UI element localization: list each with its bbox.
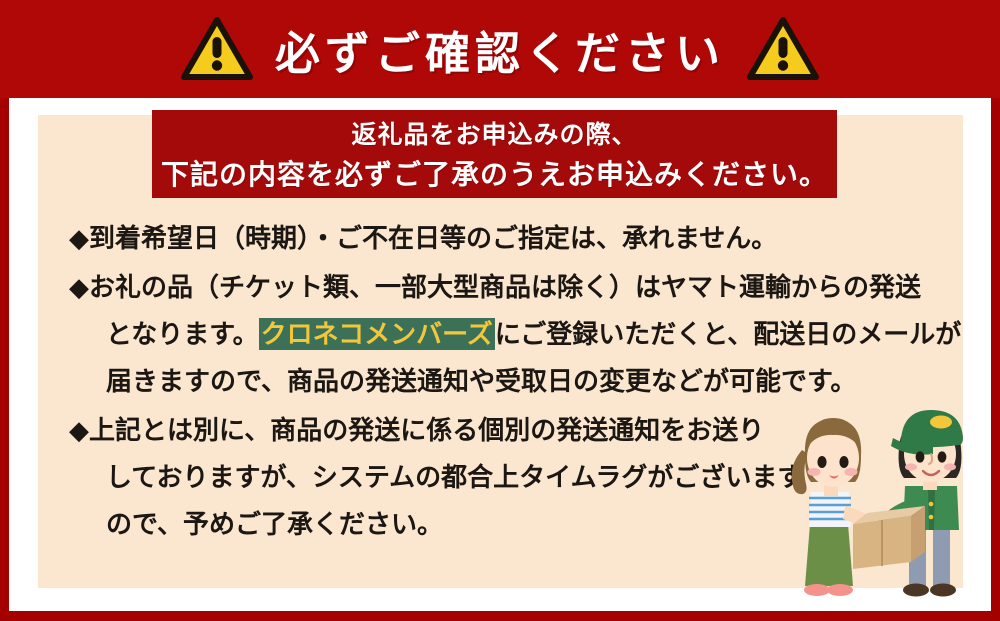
notice-item: ◆お礼の品（チケット類、一部大型商品は除く）はヤマト運輸からの発送 となります。…: [69, 264, 959, 405]
kuroneko-members-highlight: クロネコメンバーズ: [259, 318, 495, 350]
banner-callout: 返礼品をお申込みの際、 下記の内容を必ずご了承のうえお申込みください。: [152, 110, 837, 198]
notice-line: ◆お礼の品（チケット類、一部大型商品は除く）はヤマト運輸からの発送: [69, 264, 959, 311]
warning-triangle-icon: [181, 17, 253, 81]
notice-poster: 必ずご確認ください 返礼品をお申込みの際、 下記の内容を必ずご了承のうえお申込み…: [0, 0, 1000, 621]
notice-line: ◆到着希望日（時期）・ご不在日等のご指定は、承れません。: [69, 215, 959, 262]
delivery-person-figure: [867, 410, 963, 597]
page-title: 必ずご確認ください: [275, 17, 725, 82]
banner-line-2: 下記の内容を必ずご了承のうえお申込みください。: [161, 153, 828, 193]
poster-header: 必ずご確認ください: [0, 0, 1000, 98]
woman-figure: [792, 418, 893, 596]
notice-text-before: となります。: [106, 319, 259, 349]
notice-text-after: にご登録いただくと、配送日のメールが: [495, 319, 961, 349]
notice-item: ◆到着希望日（時期）・ご不在日等のご指定は、承れません。: [69, 215, 959, 262]
delivery-handover-illustration: [745, 386, 995, 611]
banner-line-1: 返礼品をお申込みの際、: [351, 115, 637, 151]
notice-line-text: ◆到着希望日（時期）・ご不在日等のご指定は、承れません。: [69, 223, 777, 253]
warning-triangle-icon: [747, 17, 819, 81]
notice-line: となります。クロネコメンバーズにご登録いただくと、配送日のメールが: [69, 311, 959, 358]
